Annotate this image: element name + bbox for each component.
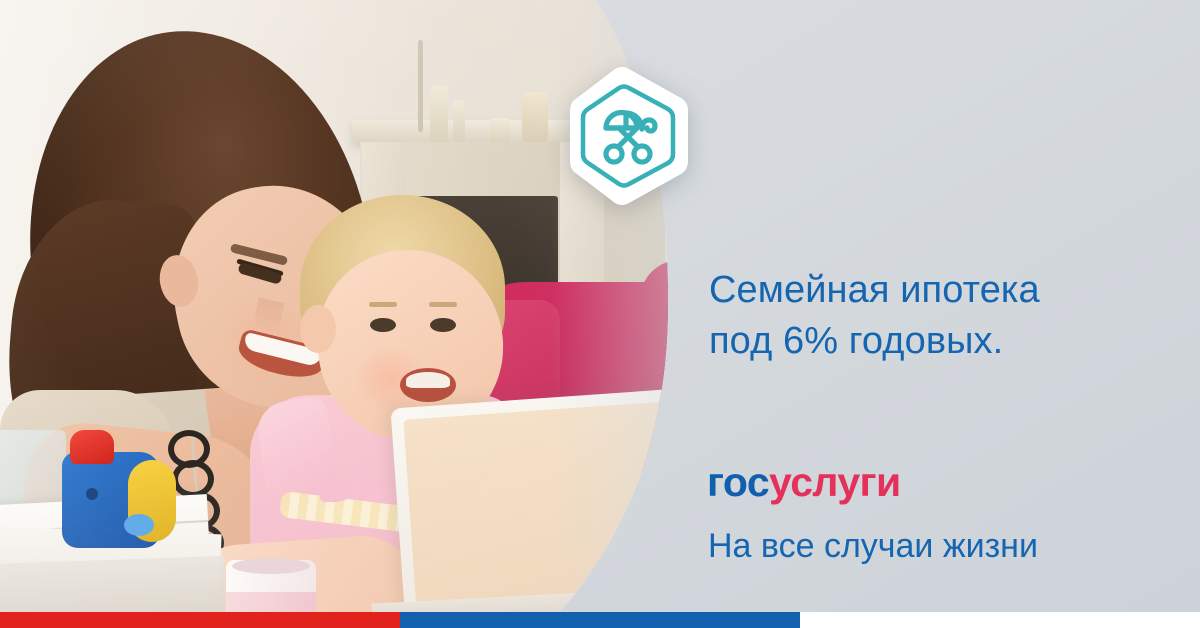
- headline: Семейная ипотека под 6% годовых.: [709, 265, 1179, 368]
- stripe-segment-blue: [400, 612, 800, 628]
- tagline: На все случаи жизни: [708, 526, 1038, 567]
- tricolor-stripe: [0, 612, 1200, 628]
- headline-line-1: Семейная ипотека: [709, 269, 1040, 311]
- stripe-segment-white: [800, 612, 1200, 628]
- promo-banner: Семейная ипотека под 6% годовых. госуслу…: [0, 0, 1200, 628]
- logo-part-uslugi: услуги: [769, 459, 901, 505]
- stripe-segment-red: [0, 612, 400, 628]
- headline-line-2: под 6% годовых.: [709, 316, 1179, 367]
- logo-part-gos: гос: [707, 459, 769, 505]
- service-badge: [566, 66, 692, 206]
- gosuslugi-logo[interactable]: госуслуги: [707, 462, 901, 503]
